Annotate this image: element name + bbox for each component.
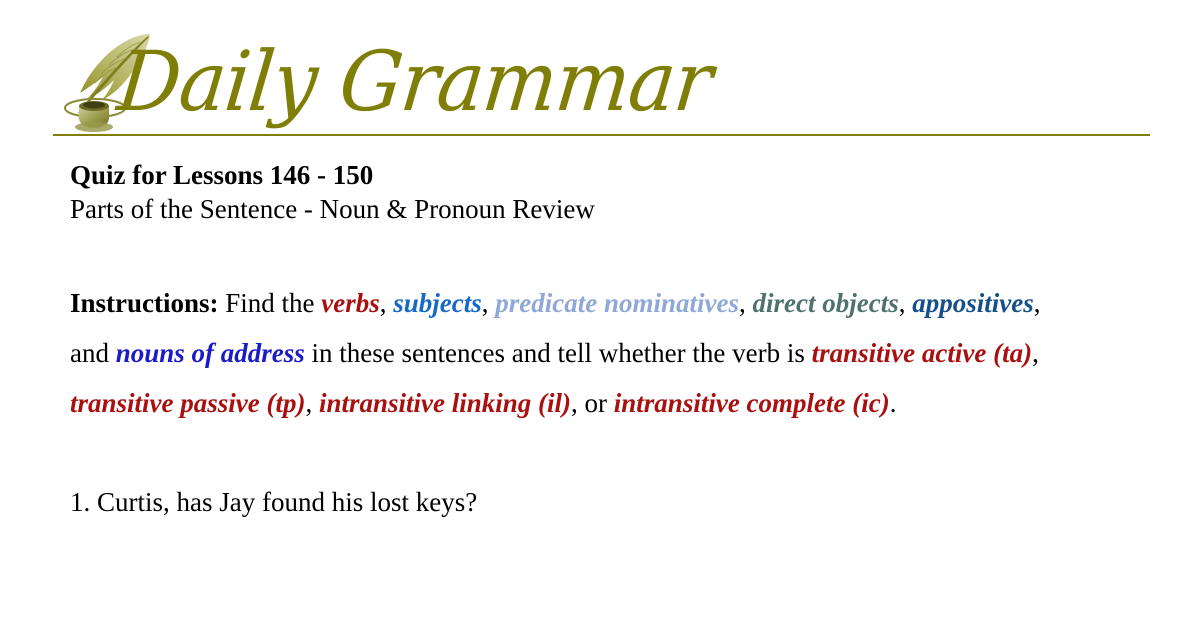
term-appositives: appositives [912, 288, 1034, 318]
quiz-title: Quiz for Lessons 146 - 150 [70, 158, 1070, 192]
quiz-subtitle: Parts of the Sentence - Noun & Pronoun R… [70, 192, 1070, 226]
term-subjects: subjects [393, 288, 482, 318]
term-direct-objects: direct objects [753, 288, 899, 318]
term-nouns-of-address: nouns of address [116, 338, 305, 368]
sep-1: , [380, 288, 394, 318]
verb-type-transitive-passive: transitive passive (tp) [70, 388, 305, 418]
conj-or: , or [571, 388, 614, 418]
question-item-1: 1. Curtis, has Jay found his lost keys? [70, 482, 1070, 522]
sep-4: , [899, 288, 913, 318]
spacer-above-questions [70, 428, 1070, 482]
site-header: Daily Grammar [0, 0, 1200, 140]
spacer-above-instructions [70, 226, 1070, 278]
verb-type-intransitive-linking: intransitive linking (il) [319, 388, 571, 418]
instructions-middle: in these sentences and tell whether the … [305, 338, 812, 368]
term-predicate-nominatives: predicate nominatives [495, 288, 739, 318]
instructions-lead: Find the [219, 288, 322, 318]
site-logo[interactable]: Daily Grammar [62, 24, 707, 132]
sep-5: , [1032, 338, 1039, 368]
instructions-end-period: . [890, 388, 897, 418]
verb-type-transitive-active: transitive active (ta) [812, 338, 1032, 368]
site-logo-text: Daily Grammar [114, 41, 715, 124]
instructions-label: Instructions: [70, 288, 219, 318]
instructions-paragraph: Instructions: Find the verbs, subjects, … [70, 278, 1070, 428]
sep-3: , [739, 288, 753, 318]
quiz-page: Daily Grammar Quiz for Lessons 146 - 150… [0, 0, 1200, 627]
sep-6: , [305, 388, 319, 418]
quiz-content: Quiz for Lessons 146 - 150 Parts of the … [70, 158, 1070, 522]
verb-type-intransitive-complete: intransitive complete (ic) [614, 388, 890, 418]
sep-2: , [482, 288, 496, 318]
header-divider [53, 134, 1150, 136]
term-verbs: verbs [321, 288, 379, 318]
